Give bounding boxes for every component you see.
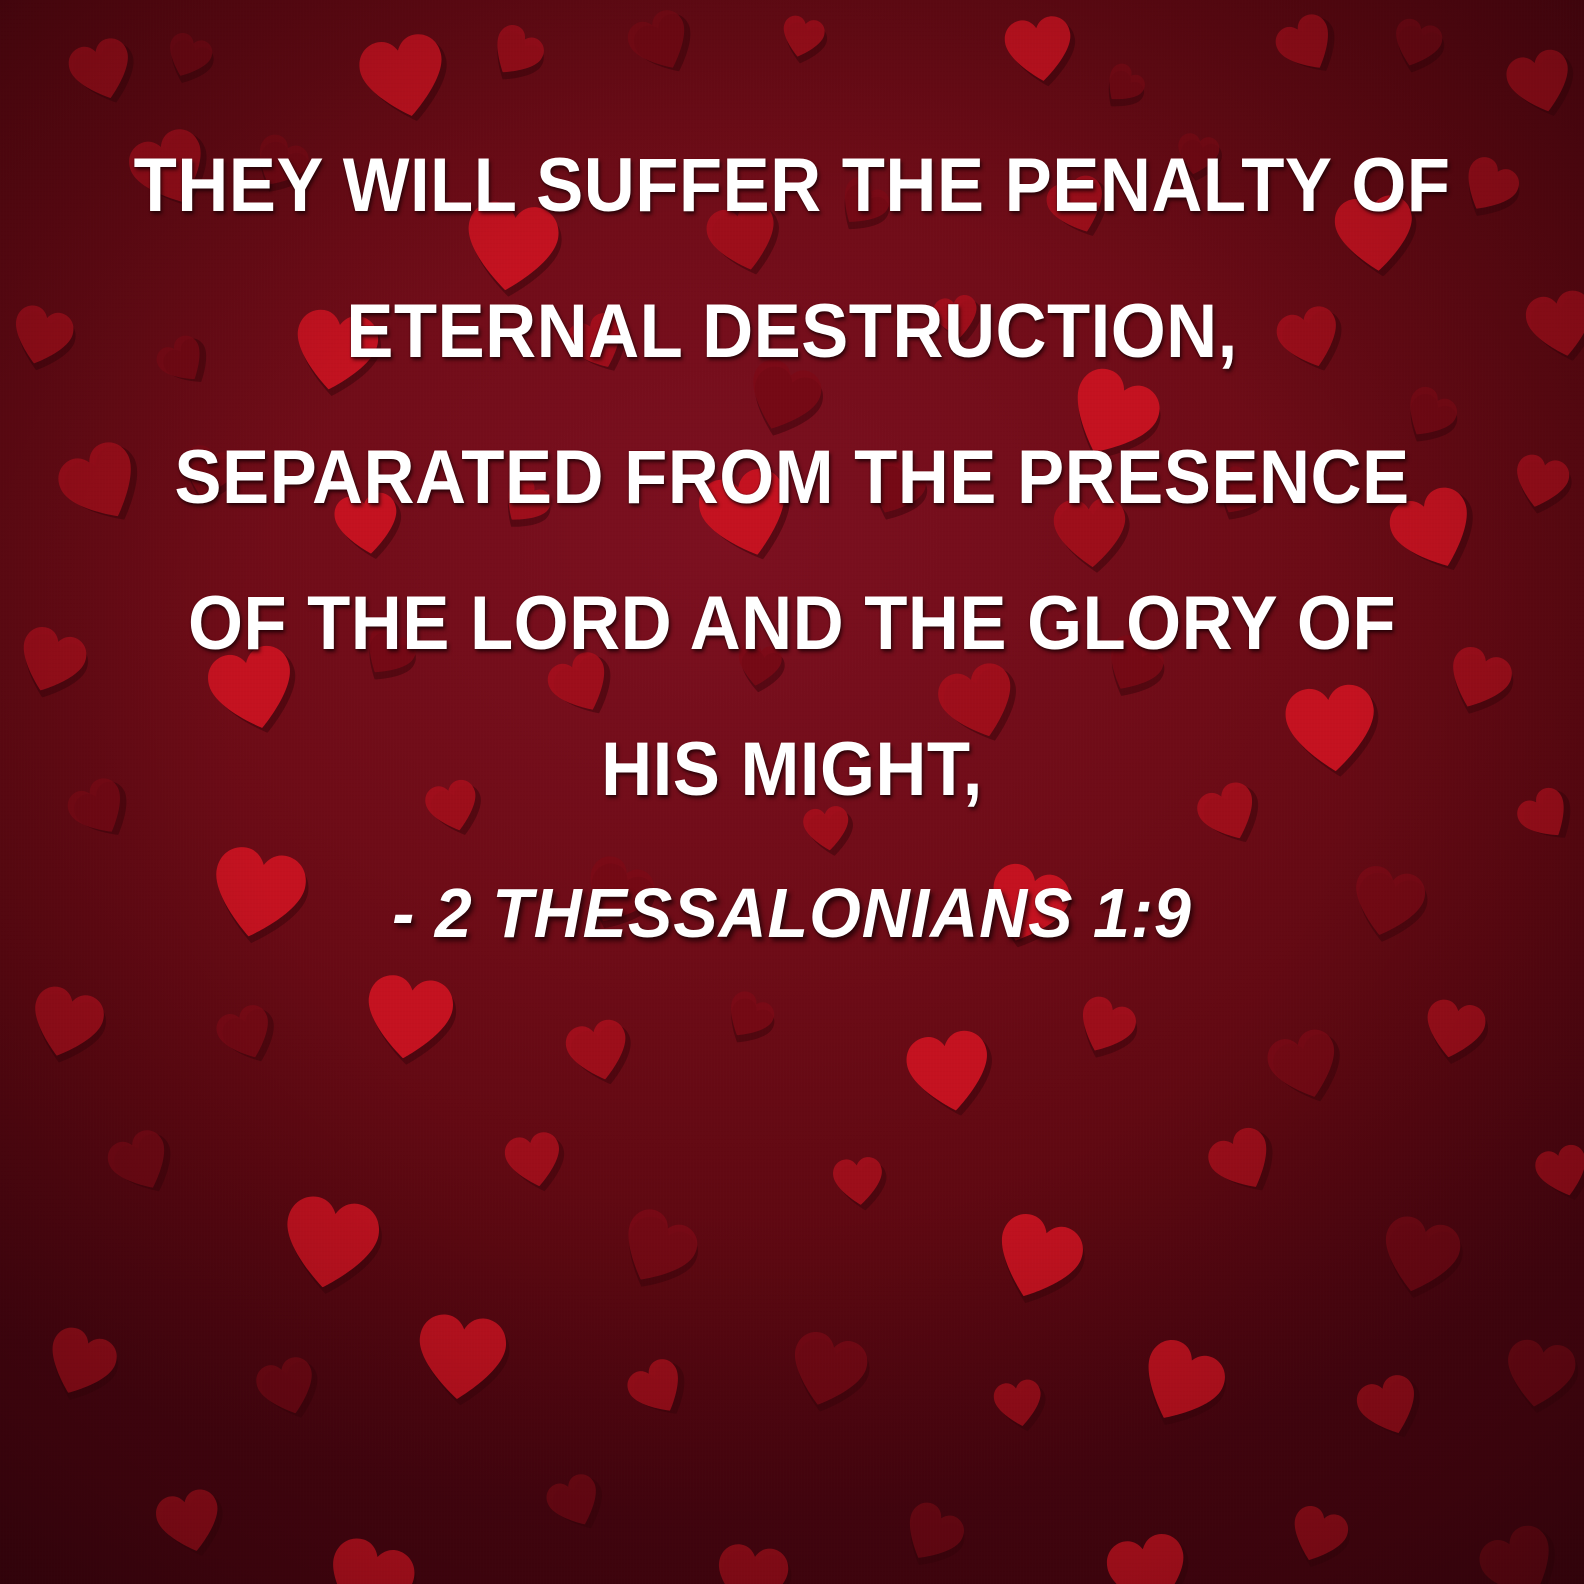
verse-attribution: - 2 Thessalonians 1:9 <box>40 878 1545 948</box>
verse-line-2: eternal destruction, <box>55 294 1528 370</box>
verse-line-4: of the Lord and the glory of <box>55 586 1528 662</box>
verse-line-1: They will suffer the penalty of <box>55 148 1528 224</box>
verse-text-block: They will suffer the penalty of eternal … <box>0 0 1584 1584</box>
verse-line-5: his might, <box>55 732 1528 808</box>
verse-line-3: separated from the presence <box>55 440 1528 516</box>
verse-image-canvas: They will suffer the penalty of eternal … <box>0 0 1584 1584</box>
